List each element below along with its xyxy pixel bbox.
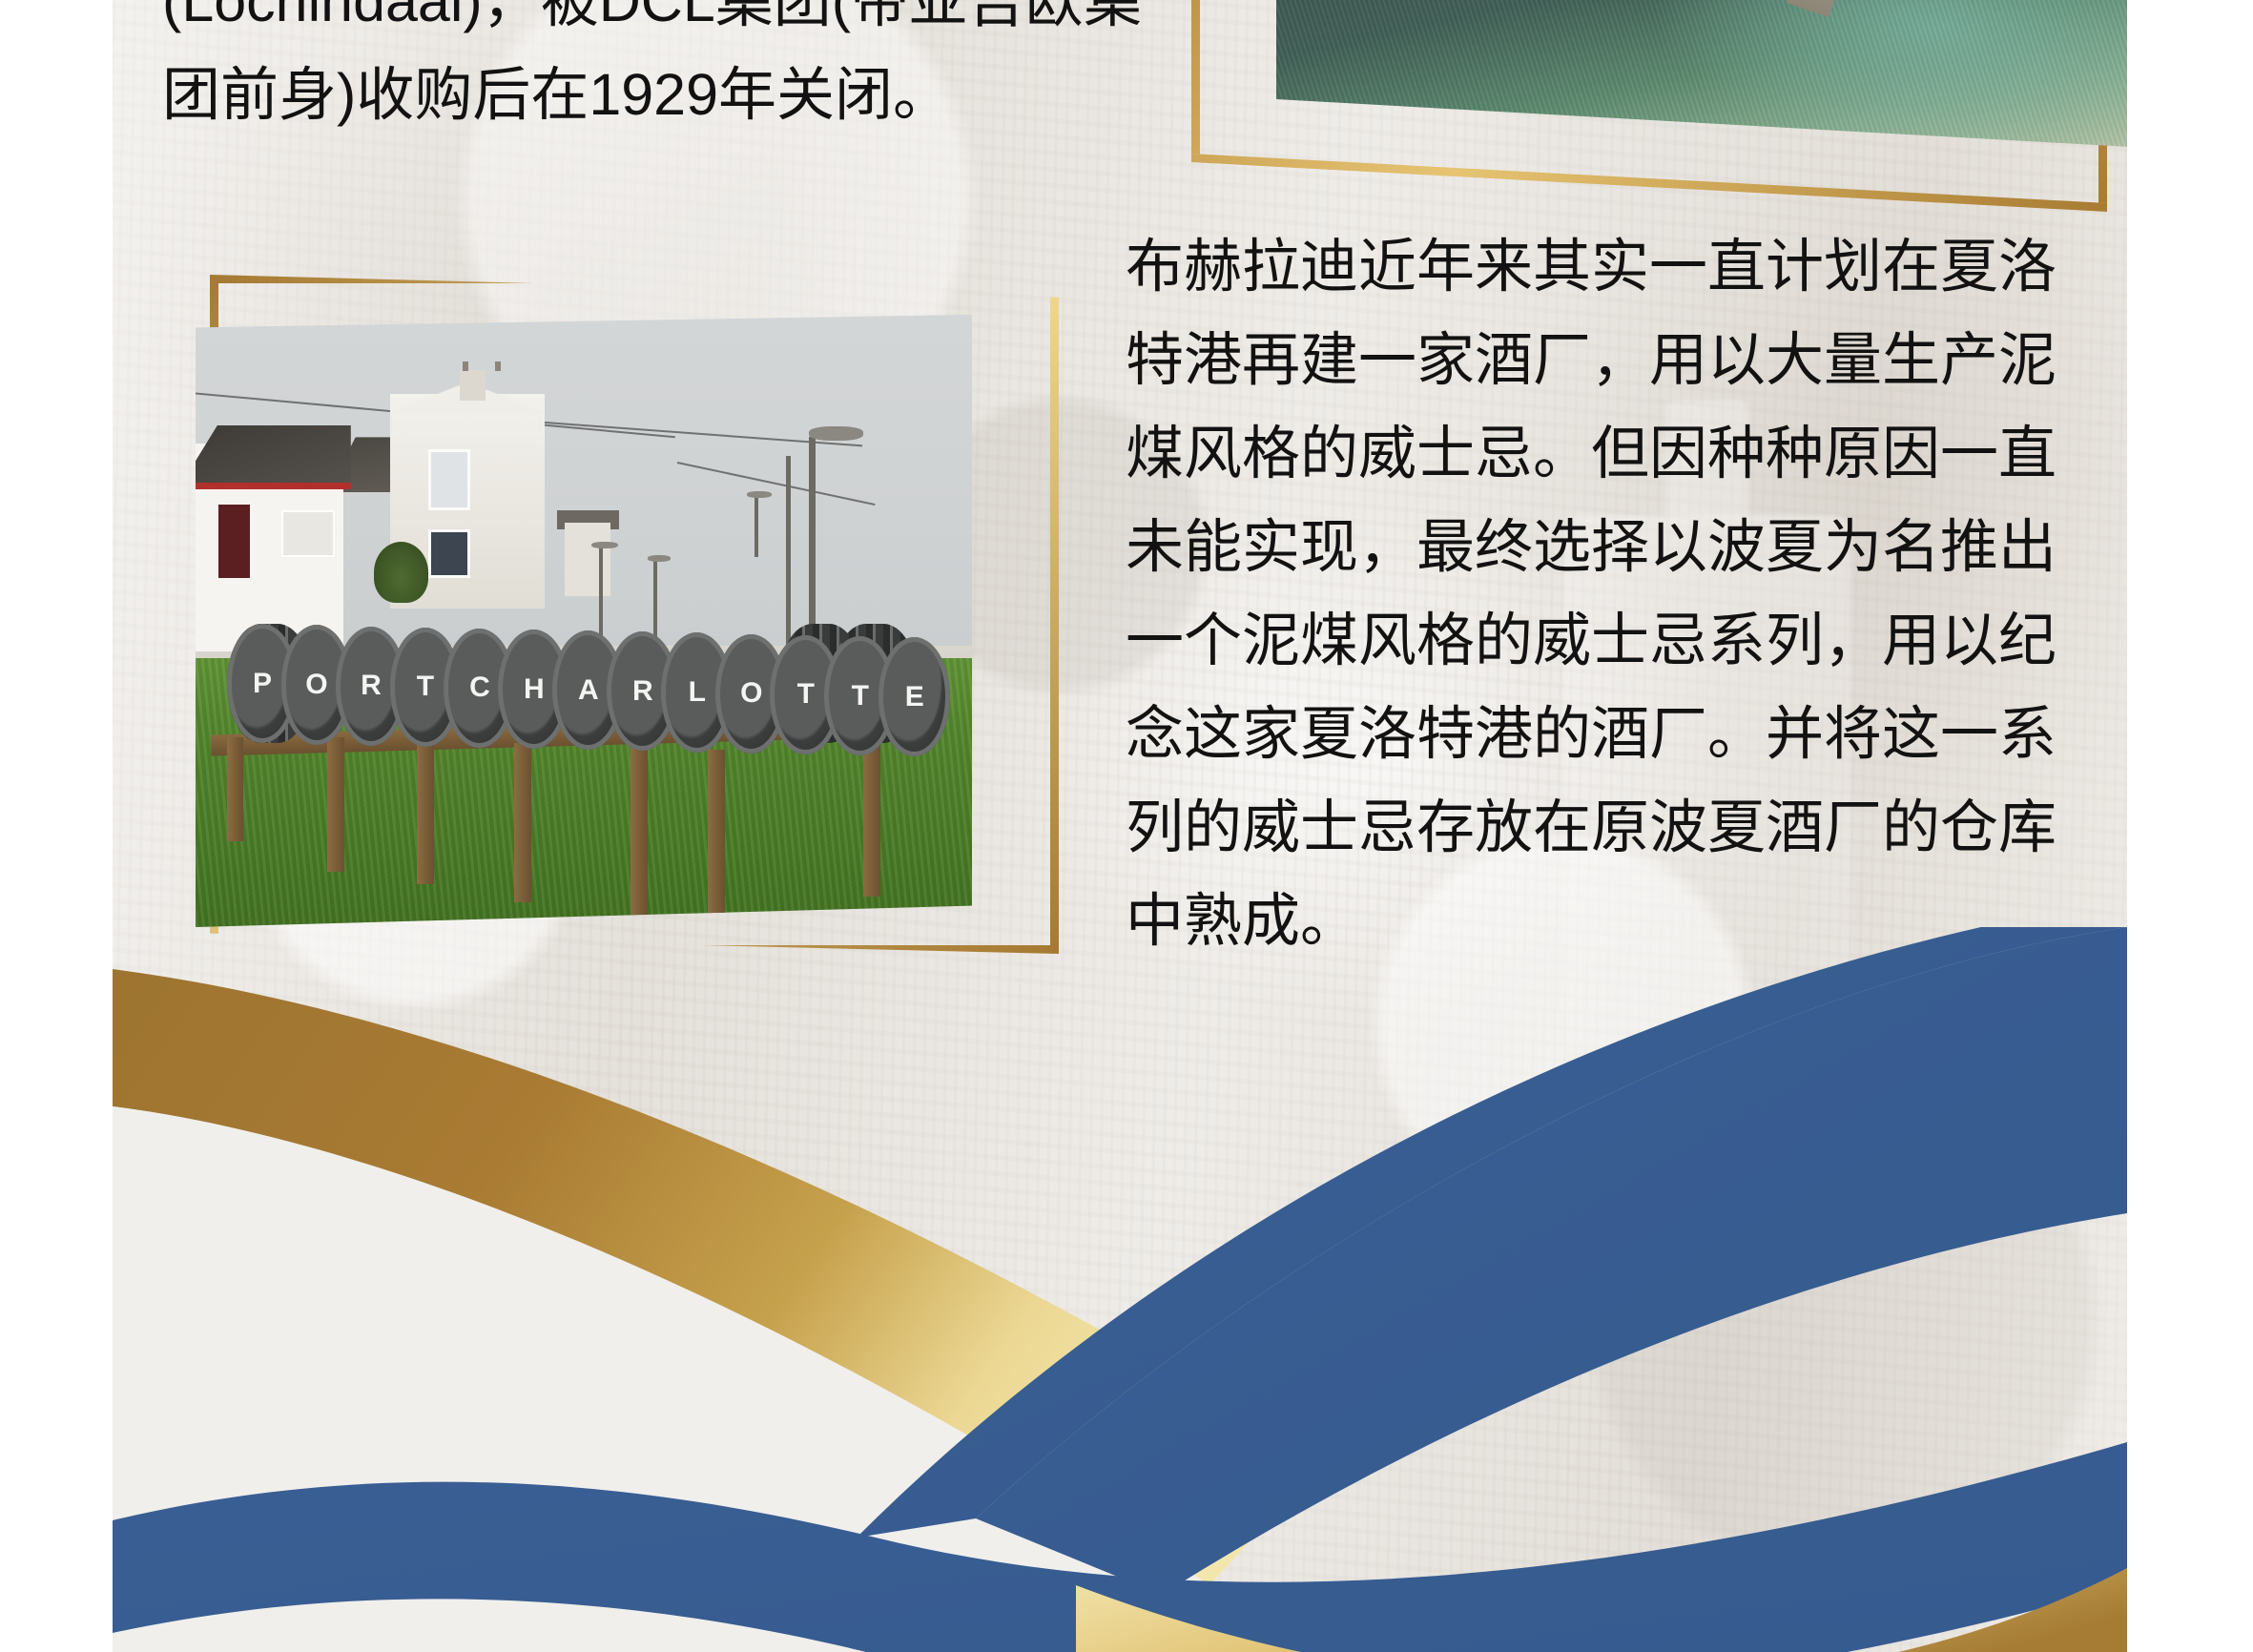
- street-lamp-head-5: [747, 491, 772, 498]
- street-lamp-pole-3: [599, 547, 603, 646]
- barrel-letter-text: T: [852, 682, 869, 711]
- support-leg: [708, 750, 725, 915]
- bungalow-window: [281, 510, 336, 557]
- barrel-letter-text: C: [469, 673, 490, 702]
- street-lamp-head-main: [809, 426, 863, 441]
- wave-decoration: [113, 927, 2127, 1652]
- shed: [565, 523, 611, 596]
- barrel-letter: E: [878, 637, 950, 756]
- left-body-text: (Lochindaal)，被DCL集团(帝亚吉欧集团前身)收购后在1929年关闭…: [162, 0, 1164, 141]
- support-leg: [863, 743, 880, 897]
- chimney: [460, 370, 486, 401]
- barrel-letter-text: P: [253, 670, 272, 698]
- wave-svg: [113, 927, 2127, 1652]
- port-charlotte-sign-photo: PORTCHARLOTTE: [196, 315, 972, 927]
- barrel-letter-text: H: [524, 675, 545, 704]
- street-lamp-pole-4: [653, 560, 657, 646]
- support-leg: [227, 737, 244, 841]
- right-margin: [2127, 0, 2253, 1652]
- barrel-letter-text: R: [361, 671, 382, 700]
- barrel-letter-text: L: [689, 678, 706, 707]
- bungalow-roof: [196, 425, 351, 486]
- street-lamp-head-4: [648, 555, 671, 562]
- support-leg: [630, 743, 648, 915]
- barrel-letter-text: O: [740, 679, 762, 708]
- right-body-text: 布赫拉迪近年来其实一直计划在夏洛特港再建一家酒厂，用以大量生产泥煤风格的威士忌。…: [1126, 219, 2098, 967]
- street-lamp-pole-5: [754, 495, 758, 556]
- barrel-letter-text: E: [905, 683, 924, 712]
- support-leg: [417, 737, 434, 884]
- barrel-letter-text: A: [578, 676, 599, 705]
- bungalow-trim: [196, 483, 351, 489]
- barrel-letter-text: R: [632, 677, 653, 706]
- front-door: [218, 505, 250, 578]
- house-window-upper: [428, 449, 469, 510]
- support-leg: [514, 743, 531, 902]
- house-window-lower: [428, 529, 469, 578]
- support-leg: [327, 737, 344, 872]
- barrel-letter-text: O: [305, 671, 327, 699]
- street-lamp-head-3: [591, 542, 618, 549]
- poster-page: (Lochindaal)，被DCL集团(帝亚吉欧集团前身)收购后在1929年关闭…: [0, 0, 2253, 1652]
- barrel-letter-text: T: [417, 672, 434, 701]
- hedge-bush: [374, 542, 428, 603]
- barrel-letter-text: T: [797, 680, 815, 709]
